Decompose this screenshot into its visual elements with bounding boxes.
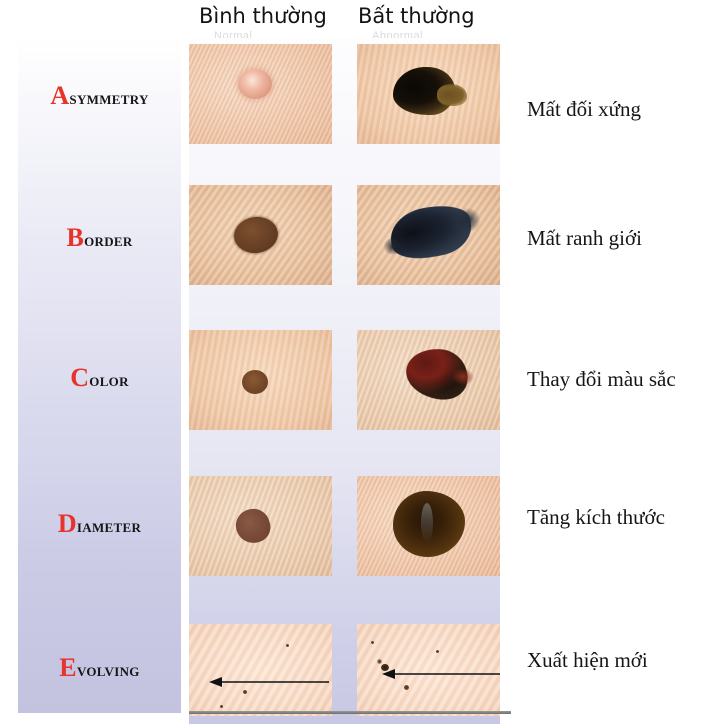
comparison-photo-panel <box>189 38 500 724</box>
description-diameter: Tăng kích thước <box>527 505 665 530</box>
abcde-label-evolving: Evolving <box>18 660 181 682</box>
abcde-label-rest-color: olor <box>89 370 128 391</box>
photo-abnormal-asymmetry <box>357 44 500 144</box>
abcde-label-rest-asymmetry: symmetry <box>69 88 148 109</box>
abcde-capital-letter-d: D <box>58 509 77 538</box>
description-evolving: Xuất hiện mới <box>527 648 648 673</box>
photo-abnormal-evolving <box>357 624 500 716</box>
description-border: Mất ranh giới <box>527 226 642 251</box>
abcde-label-diameter: Diameter <box>18 516 181 538</box>
photo-abnormal-diameter <box>357 476 500 576</box>
abcde-label-rest-diameter: iameter <box>77 516 141 537</box>
photo-normal-asymmetry <box>189 44 332 144</box>
photo-normal-color <box>189 330 332 430</box>
photo-abnormal-color <box>357 330 500 430</box>
abcde-label-asymmetry: Asymmetry <box>18 88 181 110</box>
photo-abnormal-border <box>357 185 500 285</box>
lesion-asymmetric-dark <box>393 67 455 115</box>
photo-row-evolving <box>189 624 500 722</box>
evolving-arrow-icon <box>189 624 332 716</box>
lesion-symmetric-papule <box>238 69 272 99</box>
photo-row-color <box>189 330 500 430</box>
photo-normal-evolving <box>189 624 332 716</box>
photo-row-asymmetry <box>189 44 500 144</box>
evolving-arrow-icon <box>357 624 500 716</box>
abcde-label-rest-border: order <box>84 230 132 251</box>
lesion-uniform-tan-mole <box>242 370 268 394</box>
column-header-abnormal: Bất thường <box>358 4 475 28</box>
abcde-capital-letter-a: A <box>50 81 69 110</box>
abcde-label-color: Color <box>18 370 181 392</box>
photo-normal-border <box>189 185 332 285</box>
panel-baseline-rule <box>189 711 511 714</box>
abcde-capital-letter-e: E <box>59 653 77 682</box>
photo-normal-diameter <box>189 476 332 576</box>
abcde-sidebar: Asymmetry Border Color Diameter Evolving <box>18 38 181 713</box>
photo-row-border <box>189 185 500 285</box>
abcde-capital-letter-b: B <box>66 223 84 252</box>
description-asymmetry: Mất đối xứng <box>527 97 641 122</box>
abcde-capital-letter-c: C <box>70 363 89 392</box>
abcde-label-border: Border <box>18 230 181 252</box>
photo-row-diameter <box>189 476 500 576</box>
column-header-normal: Bình thường <box>199 4 327 28</box>
description-color: Thay đổi màu sắc <box>527 367 676 392</box>
abcde-label-rest-evolving: volving <box>77 660 140 681</box>
